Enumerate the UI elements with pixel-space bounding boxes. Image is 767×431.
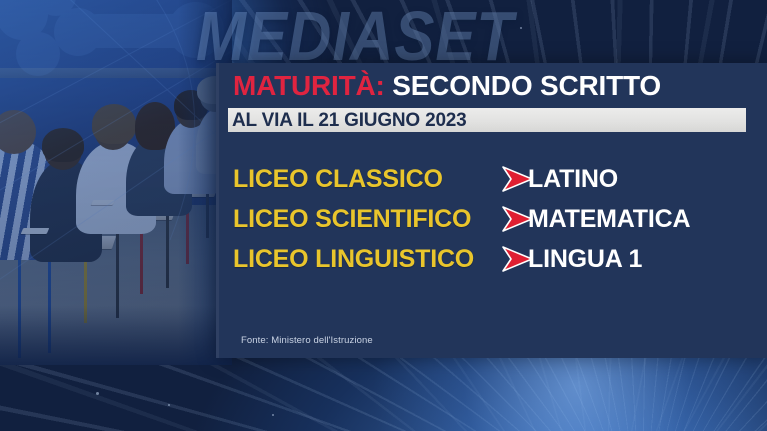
school-label: LICEO LINGUISTICO xyxy=(233,247,474,272)
sparkle-dot xyxy=(520,27,522,29)
sparkle-dot xyxy=(96,392,99,395)
broadcast-screen: MEDIASET MATURITÀ: SECONDO SCRITTO AL VI… xyxy=(0,0,767,431)
list-item: LICEO SCIENTIFICO MATEMATICA xyxy=(216,199,767,239)
headline-rest: SECONDO SCRITTO xyxy=(385,70,661,101)
subject-list: LICEO CLASSICO LATINO LICEO SCIENTIFICO … xyxy=(216,159,767,279)
sparkle-dot xyxy=(272,414,274,416)
photo-bottom-fade xyxy=(0,305,232,365)
list-item: LICEO LINGUISTICO LINGUA 1 xyxy=(216,239,767,279)
subheadline-bar: AL VIA IL 21 GIUGNO 2023 xyxy=(228,108,746,132)
list-item: LICEO CLASSICO LATINO xyxy=(216,159,767,199)
school-label: LICEO CLASSICO xyxy=(233,167,443,192)
subject-label: MATEMATICA xyxy=(528,207,690,232)
source-credit: Fonte: Ministero dell'Istruzione xyxy=(241,335,373,346)
lower-third-panel: MATURITÀ: SECONDO SCRITTO AL VIA IL 21 G… xyxy=(216,63,767,358)
subheadline-text: AL VIA IL 21 GIUGNO 2023 xyxy=(228,111,467,130)
subject-label: LATINO xyxy=(528,167,618,192)
sparkle-dot xyxy=(168,404,170,406)
subject-label: LINGUA 1 xyxy=(528,247,642,272)
school-label: LICEO SCIENTIFICO xyxy=(233,207,471,232)
headline-highlight: MATURITÀ: xyxy=(233,70,385,101)
page-title: MATURITÀ: SECONDO SCRITTO xyxy=(233,72,661,100)
